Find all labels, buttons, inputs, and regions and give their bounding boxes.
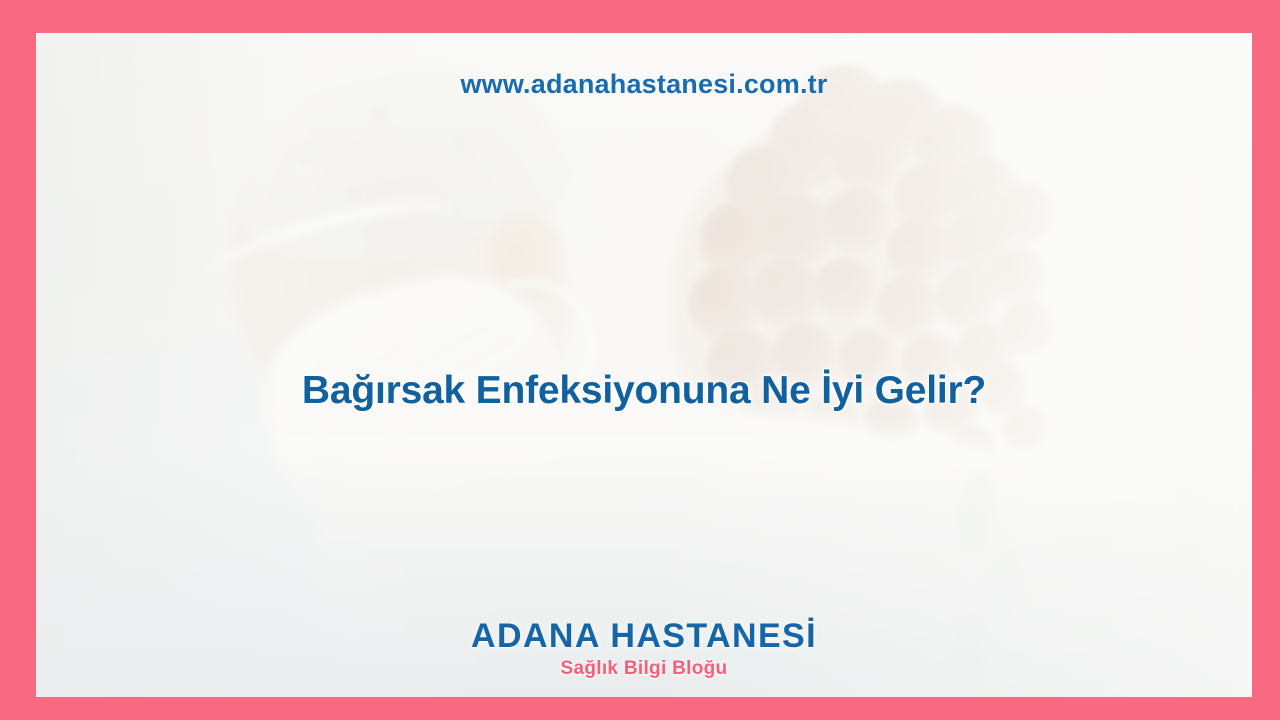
site-url-text: www.adanahastanesi.com.tr (36, 69, 1252, 100)
brand-name: ADANA HASTANESİ (36, 619, 1252, 655)
cover-card: www.adanahastanesi.com.tr Bağırsak Enfek… (36, 33, 1252, 697)
page-title: Bağırsak Enfeksiyonuna Ne İyi Gelir? (36, 369, 1252, 413)
background-photo (36, 33, 1252, 697)
brand-block: ADANA HASTANESİ Sağlık Bilgi Bloğu (36, 619, 1252, 680)
brand-tagline: Sağlık Bilgi Bloğu (36, 658, 1252, 680)
photo-horizontal-fade (36, 33, 1252, 697)
blog-cover-graphic: www.adanahastanesi.com.tr Bağırsak Enfek… (0, 0, 1280, 720)
